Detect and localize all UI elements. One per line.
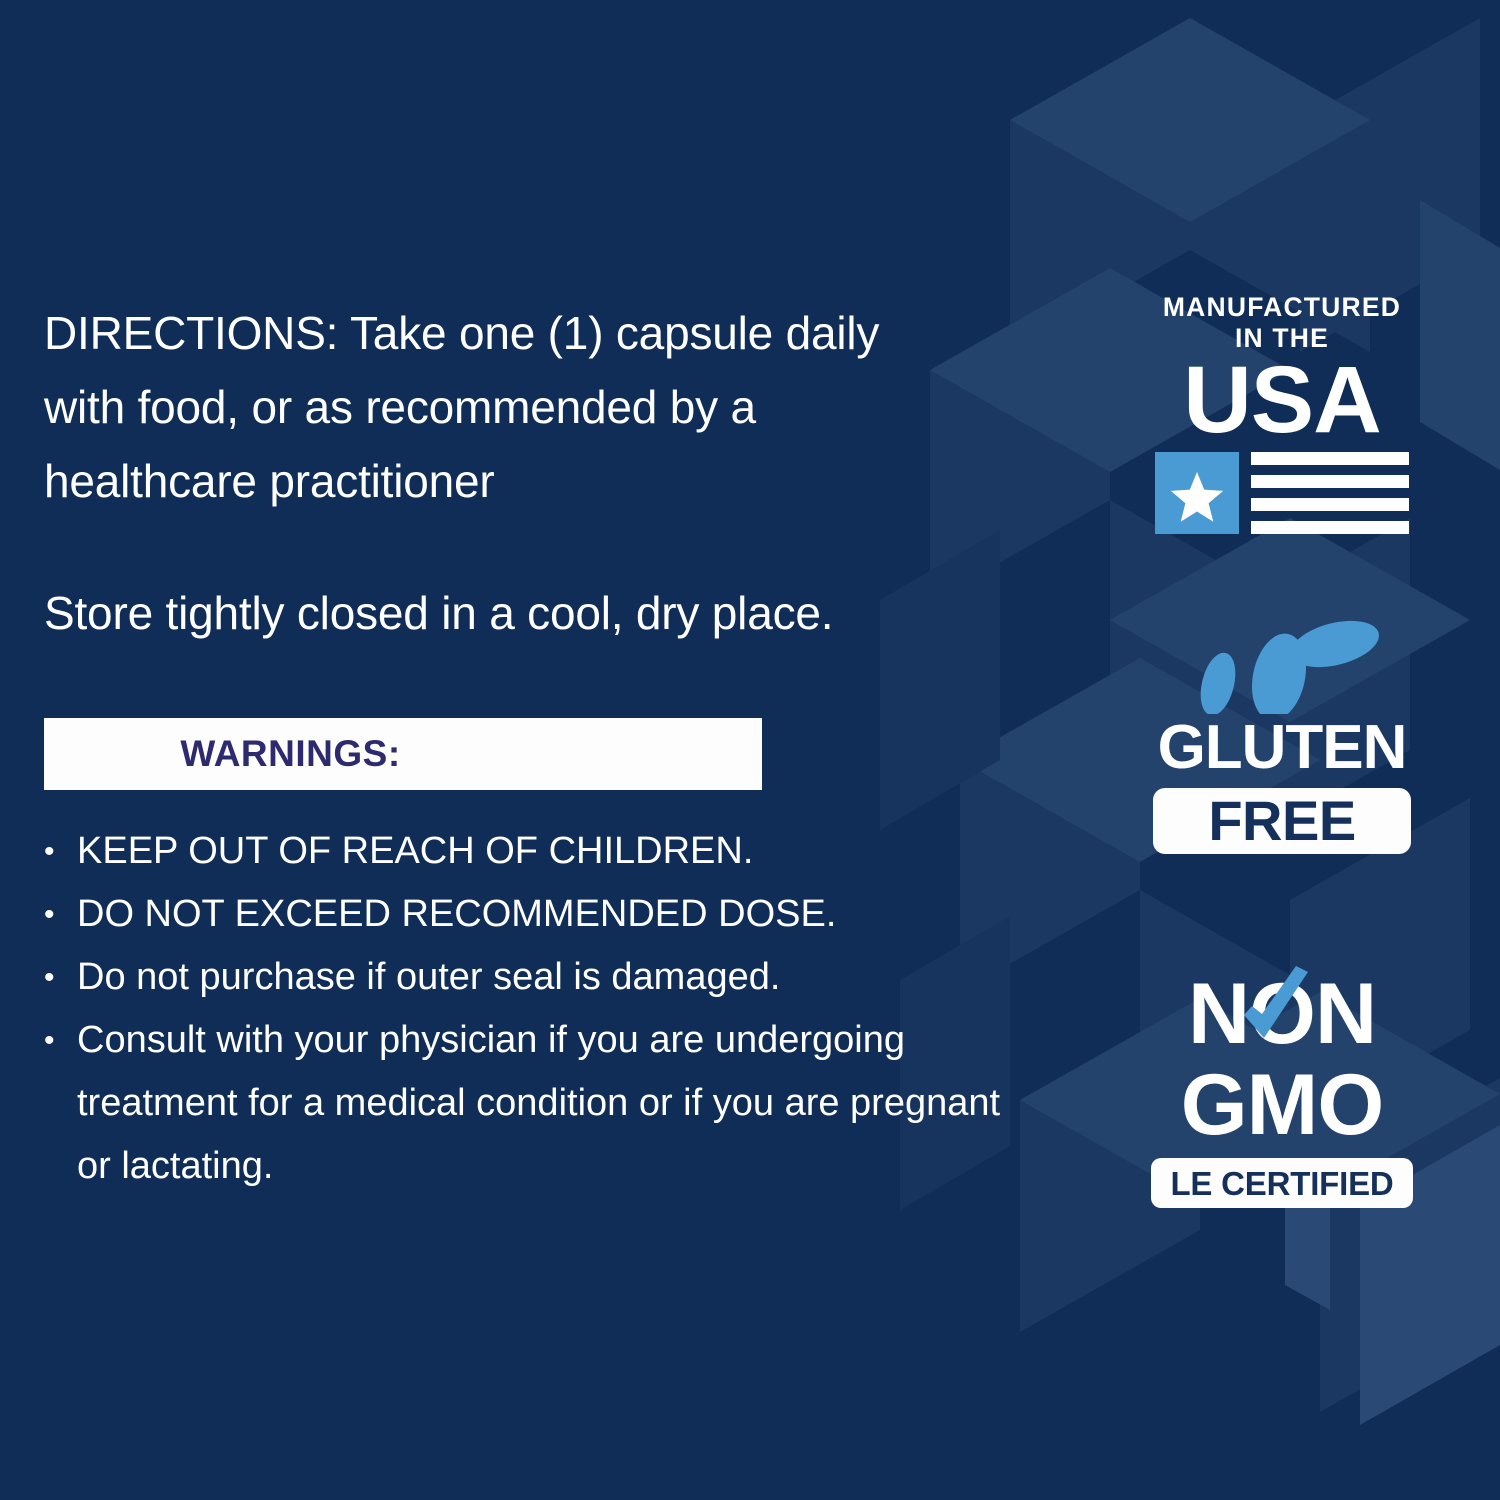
gluten-free-box: FREE [1153,788,1411,854]
supplement-label-panel: DIRECTIONS: Take one (1) capsule daily w… [0,0,1500,1500]
badge-non-gmo: NON GMO LE CERTIFIED [1132,968,1432,1208]
us-flag-icon [1155,452,1409,534]
non-gmo-line-3: LE CERTIFIED [1170,1167,1393,1200]
badge-manufactured-in-usa: MANUFACTURED IN THE USA [1132,292,1432,562]
checkmark-icon [1228,966,1318,1060]
storage-instruction-block: Store tightly closed in a cool, dry plac… [44,576,1004,650]
directions-block: DIRECTIONS: Take one (1) capsule daily w… [44,296,1004,518]
wheat-grain-icon [1152,618,1412,714]
certification-badge-column: MANUFACTURED IN THE USA [1132,292,1432,1208]
usa-badge-line-1: MANUFACTURED [1132,292,1432,322]
non-gmo-first-row: NON [1132,968,1432,1060]
warning-item: DO NOT EXCEED RECOMMENDED DOSE. [44,883,1004,946]
warning-item: Consult with your physician if you are u… [44,1009,1004,1198]
storage-instruction-text: Store tightly closed in a cool, dry plac… [44,576,1004,650]
directions-line-1: DIRECTIONS: Take one (1) capsule daily [44,296,1004,370]
directions-line-3: healthcare practitioner [44,444,1004,518]
non-gmo-line-2: GMO [1132,1060,1432,1150]
warning-item: KEEP OUT OF REACH OF CHILDREN. [44,820,1004,883]
warnings-list: KEEP OUT OF REACH OF CHILDREN. DO NOT EX… [44,820,1004,1198]
warnings-header-box: WARNINGS: [44,718,762,790]
badge-gluten-free: GLUTEN FREE [1132,618,1432,886]
directions-line-2: with food, or as recommended by a [44,370,1004,444]
gluten-free-line-2: FREE [1208,793,1355,849]
gluten-free-line-1: GLUTEN [1132,714,1432,782]
warning-item: Do not purchase if outer seal is damaged… [44,946,1004,1009]
non-gmo-certified-box: LE CERTIFIED [1151,1158,1413,1208]
usa-badge-line-3: USA [1132,354,1432,446]
label-text-column: DIRECTIONS: Take one (1) capsule daily w… [44,296,1004,1214]
warnings-heading: WARNINGS: [180,733,400,775]
